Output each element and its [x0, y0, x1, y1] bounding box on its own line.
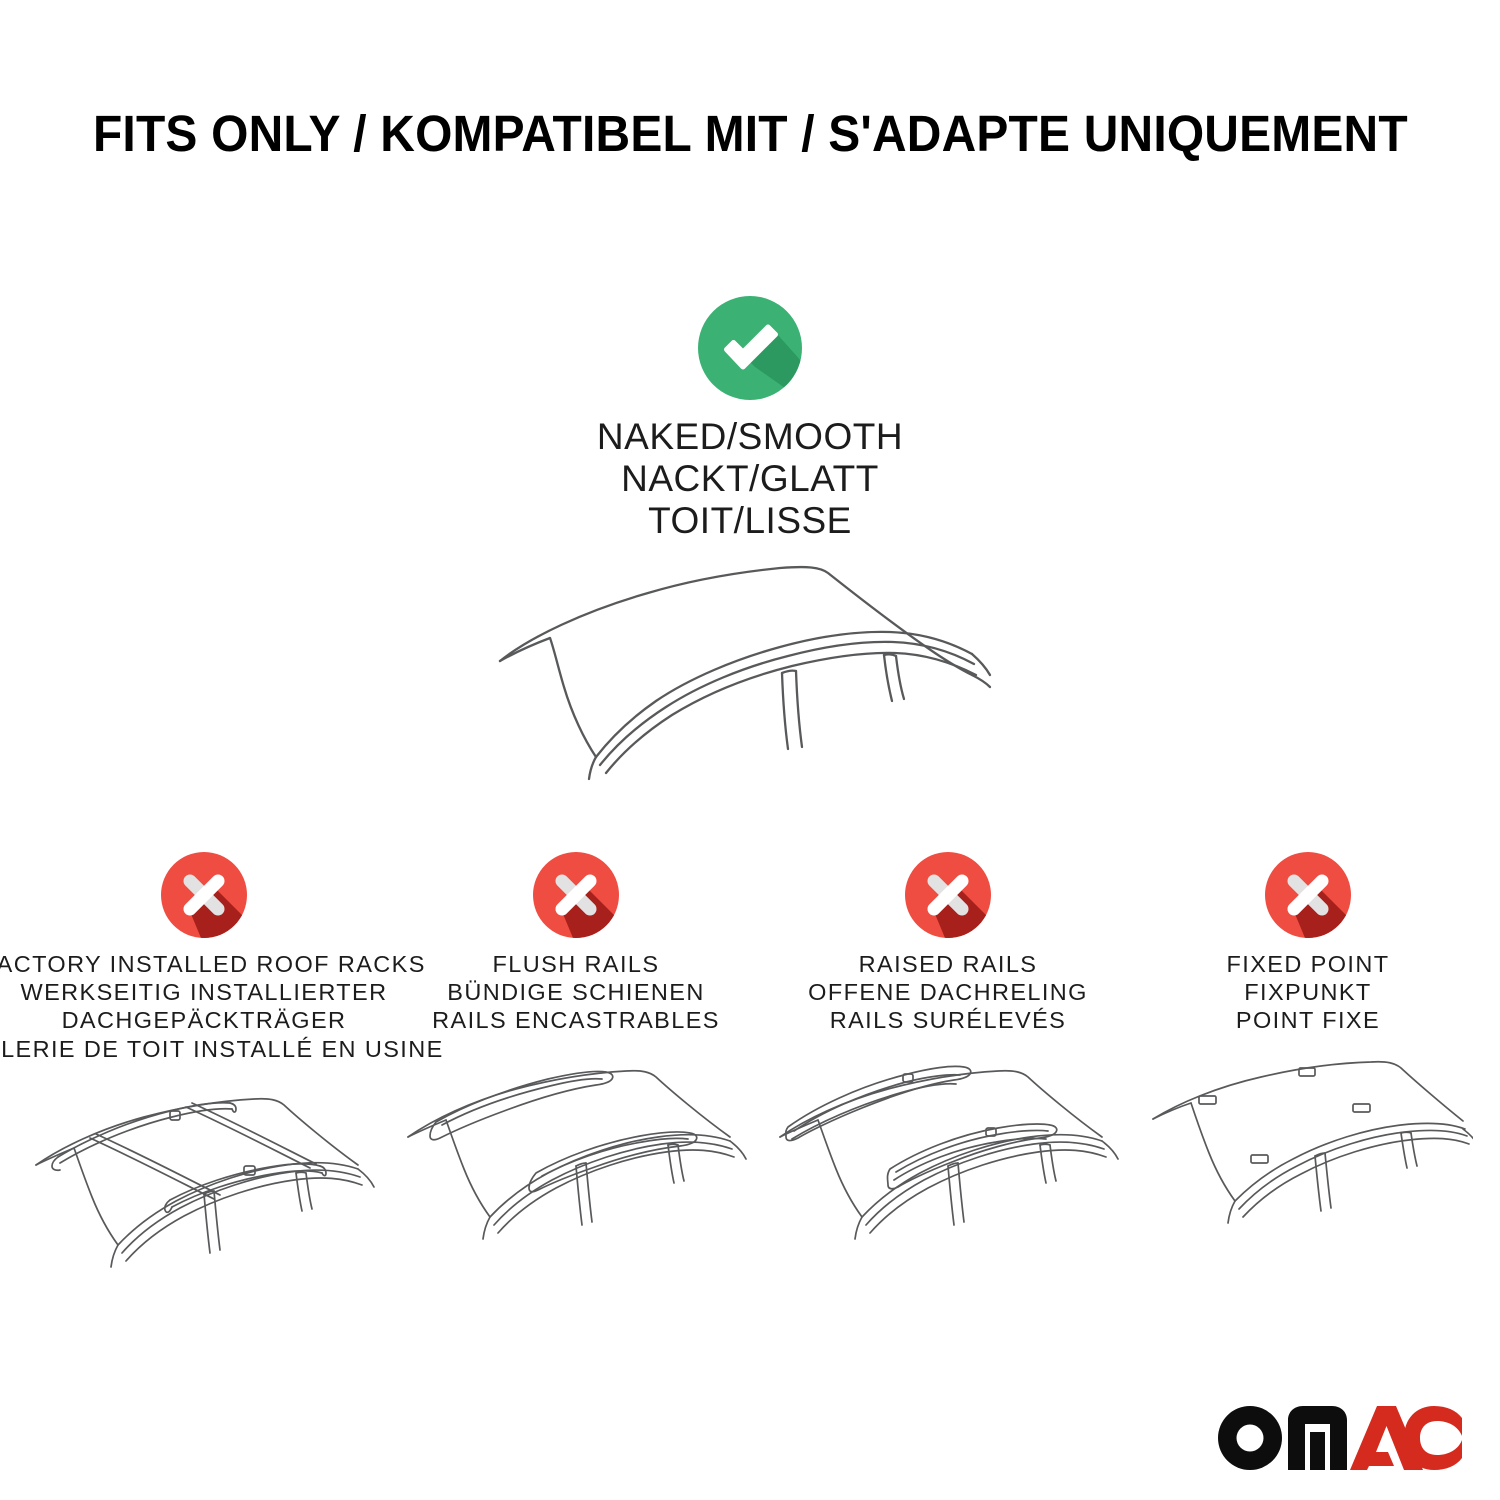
- caption-line: FACTORY INSTALLED ROOF RACKS: [0, 950, 444, 978]
- x-circle-icon: [1265, 852, 1351, 938]
- compatible-section: NAKED/SMOOTH NACKT/GLATT TOIT/LISSE: [0, 296, 1500, 819]
- not-compatible-caption: FIXED POINT FIXPUNKT POINT FIXE: [1227, 950, 1390, 1035]
- caption-line: POINT FIXE: [1227, 1006, 1390, 1034]
- not-compatible-caption: FACTORY INSTALLED ROOF RACKS WERKSEITIG …: [0, 950, 444, 1063]
- car-roof-flush-rails-illustration: [390, 1049, 762, 1264]
- compatible-caption: NAKED/SMOOTH NACKT/GLATT TOIT/LISSE: [597, 416, 903, 541]
- not-compatible-item-fixed-point: FIXED POINT FIXPUNKT POINT FIXE: [1134, 852, 1482, 1264]
- x-circle-icon: [905, 852, 991, 938]
- caption-line: DACHGEPÄCKTRÄGER: [0, 1006, 444, 1034]
- caption-line: RAILS ENCASTRABLES: [432, 1006, 720, 1034]
- caption-line: RAILS SURÉLEVÉS: [808, 1006, 1088, 1034]
- page-title: FITS ONLY / KOMPATIBEL MIT / S'ADAPTE UN…: [93, 104, 1408, 163]
- caption-line: FLUSH RAILS: [432, 950, 720, 978]
- not-compatible-item-raised-rails: RAISED RAILS OFFENE DACHRELING RAILS SUR…: [762, 852, 1134, 1264]
- caption-line: NACKT/GLATT: [597, 458, 903, 500]
- caption-line: TOIT/LISSE: [597, 500, 903, 542]
- caption-line: BÜNDIGE SCHIENEN: [432, 978, 720, 1006]
- not-compatible-caption: RAISED RAILS OFFENE DACHRELING RAILS SUR…: [808, 950, 1088, 1035]
- not-compatible-item-factory-racks: FACTORY INSTALLED ROOF RACKS WERKSEITIG …: [18, 852, 390, 1292]
- car-roof-raised-rails-illustration: [762, 1049, 1134, 1264]
- x-circle-icon: [533, 852, 619, 938]
- caption-line: OFFENE DACHRELING: [808, 978, 1088, 1006]
- page-title-bar: FITS ONLY / KOMPATIBEL MIT / S'ADAPTE UN…: [0, 104, 1500, 163]
- omac-logo: [1214, 1402, 1464, 1474]
- car-roof-fixed-point-illustration: [1143, 1049, 1473, 1264]
- caption-line: NAKED/SMOOTH: [597, 416, 903, 458]
- caption-line: WERKSEITIG INSTALLIERTER: [0, 978, 444, 1006]
- car-roof-naked-smooth-illustration: [480, 549, 1020, 819]
- caption-line: FIXPUNKT: [1227, 978, 1390, 1006]
- caption-line: GALERIE DE TOIT INSTALLÉ EN USINE: [0, 1035, 444, 1063]
- not-compatible-item-flush-rails: FLUSH RAILS BÜNDIGE SCHIENEN RAILS ENCAS…: [390, 852, 762, 1264]
- car-roof-factory-racks-illustration: [18, 1077, 390, 1292]
- x-circle-icon: [161, 852, 247, 938]
- check-circle-icon: [698, 296, 802, 400]
- not-compatible-caption: FLUSH RAILS BÜNDIGE SCHIENEN RAILS ENCAS…: [432, 950, 720, 1035]
- not-compatible-row: FACTORY INSTALLED ROOF RACKS WERKSEITIG …: [0, 852, 1500, 1292]
- caption-line: RAISED RAILS: [808, 950, 1088, 978]
- caption-line: FIXED POINT: [1227, 950, 1390, 978]
